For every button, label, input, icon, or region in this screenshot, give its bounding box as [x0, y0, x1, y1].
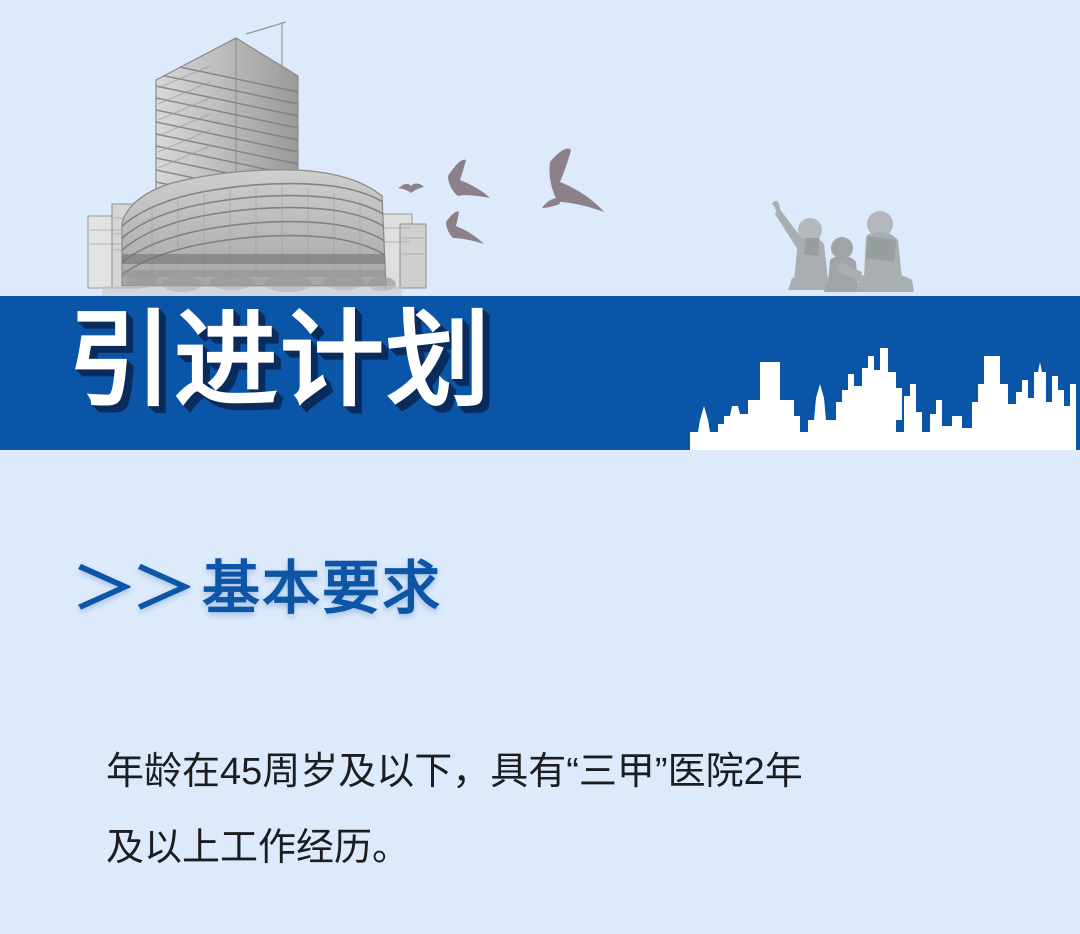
requirements-line-2: 及以上工作经历。 — [106, 810, 986, 886]
seated-people-illustration — [762, 186, 928, 296]
page-title: 引进计划 — [68, 302, 492, 420]
hero-illustration-area — [0, 0, 1080, 296]
city-skyline-silhouette-icon — [690, 328, 1080, 450]
section-heading-label: 基本要求 — [202, 560, 442, 618]
requirements-paragraph: 年龄在45周岁及以下，具有“三甲”医院2年 及以上工作经历。 — [106, 734, 986, 886]
section-heading: ＞＞ 基本要求 — [72, 560, 442, 618]
requirements-line-1: 年龄在45周岁及以下，具有“三甲”医院2年 — [106, 734, 986, 810]
double-chevron-right-icon: ＞＞ — [72, 561, 203, 617]
poster-root: 引进计划 ＞＞ 基本要求 年龄在45周岁及以下，具有“三甲”医院2年 及以上工作… — [0, 0, 1080, 934]
flying-birds-icon — [390, 140, 630, 270]
